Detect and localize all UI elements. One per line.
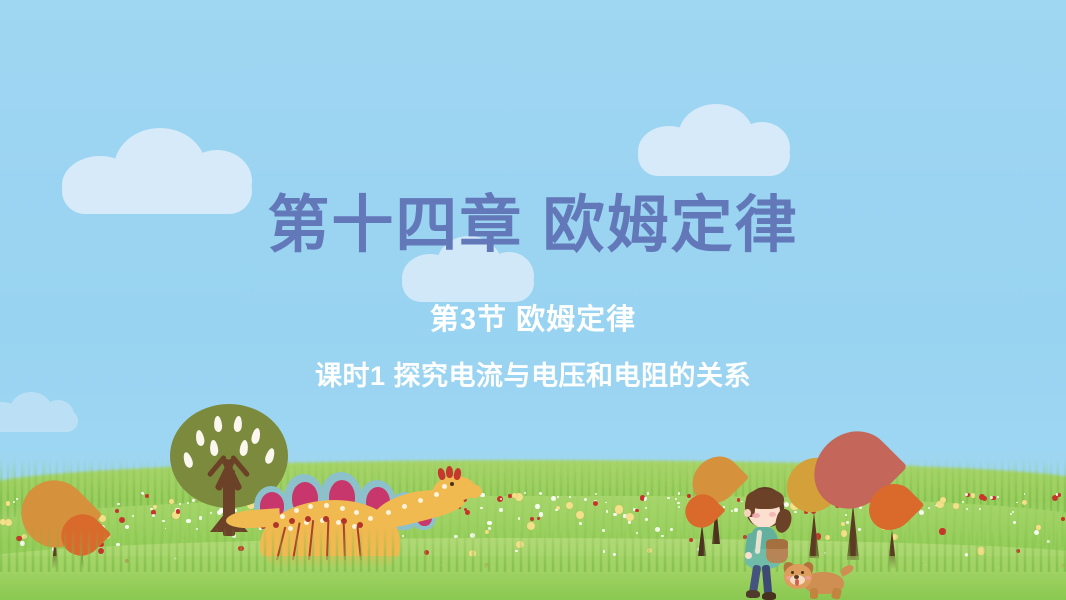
flower-yellow-dot	[953, 503, 959, 509]
flower-yellow-dot	[971, 493, 975, 497]
flower-white-dot	[979, 508, 981, 510]
dog-eye-right	[801, 571, 804, 574]
dog-leg-front	[810, 588, 818, 599]
flower-white-dot	[613, 513, 617, 517]
flower-white-dot	[935, 505, 937, 507]
flower-yellow-dot	[512, 493, 517, 498]
flower-white-dot	[1056, 493, 1058, 495]
dog-tongue	[795, 579, 799, 586]
flower-white-dot	[535, 504, 539, 508]
flower-white-dot	[132, 515, 134, 517]
dino-eye	[450, 482, 454, 486]
flower-yellow-dot	[6, 501, 10, 505]
girl-hand	[745, 552, 752, 559]
dog-blush-right	[805, 576, 811, 580]
lesson-subtitle: 课时1 探究电流与电压和电阻的关系	[0, 354, 1066, 393]
flower-white-dot	[919, 510, 924, 515]
girl-shoe-right	[762, 592, 776, 600]
section-subtitle: 第3节 欧姆定律	[0, 296, 1066, 338]
flower-white-dot	[606, 510, 609, 513]
flower-white-dot	[997, 496, 999, 498]
dog-eye-left	[791, 571, 794, 574]
dog-leg-back	[831, 587, 842, 600]
flower-white-dot	[962, 501, 964, 503]
dog-tail	[839, 563, 855, 577]
page-title: 第十四章 欧姆定律	[0, 193, 1066, 260]
girl-backpack-flap	[766, 539, 788, 549]
flower-white-dot	[539, 512, 544, 517]
berry-dot	[115, 509, 119, 513]
flower-white-dot	[678, 492, 680, 494]
berry-dot	[530, 517, 534, 521]
flower-white-dot	[569, 496, 571, 498]
girl-blush-left	[752, 513, 760, 518]
flower-white-dot	[117, 503, 119, 505]
flower-yellow-dot	[576, 511, 584, 519]
girl-leg-right	[762, 565, 773, 596]
girl-shoe-left	[746, 590, 760, 598]
flower-white-dot	[645, 518, 648, 521]
flower-yellow-dot	[0, 519, 6, 525]
grass-front-blades	[0, 526, 1066, 572]
flower-white-dot	[557, 496, 559, 498]
girl-blush-right	[769, 512, 776, 517]
flower-white-dot	[518, 517, 521, 520]
flower-yellow-dot	[626, 513, 634, 521]
girl-ear	[744, 509, 751, 517]
slide-canvas: 第十四章 欧姆定律 第3节 欧姆定律 课时1 探究电流与电压和电阻的关系	[0, 0, 1066, 600]
dog	[784, 558, 856, 600]
dino-snout	[464, 484, 482, 498]
